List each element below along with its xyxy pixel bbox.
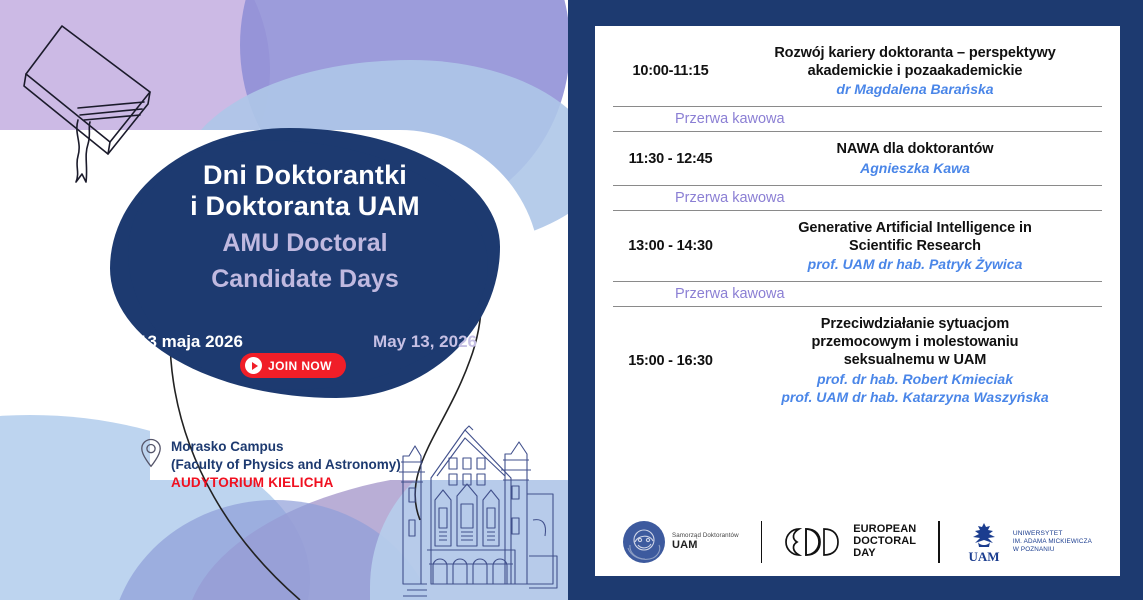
session-title-line: przemocowym i molestowaniu	[734, 333, 1096, 351]
collegium-building-icon	[393, 424, 568, 600]
edd-monogram-icon	[784, 525, 846, 559]
location-pin-icon	[140, 438, 162, 468]
svg-text:UAM: UAM	[968, 549, 999, 564]
logo-european-doctoral-day: EUROPEAN DOCTORAL DAY	[784, 524, 916, 560]
logo-divider	[938, 521, 940, 563]
title-en-line2: Candidate Days	[112, 265, 498, 294]
uam-eagle-icon: UAM	[962, 520, 1006, 564]
break-label: Przerwa kawowa	[675, 286, 785, 302]
session-body: Przeciwdziałanie sytuacjom przemocowym i…	[728, 315, 1102, 406]
venue-line1: Morasko Campus	[171, 438, 401, 456]
session-title-line: Rozwój kariery doktoranta – perspektywy	[734, 44, 1096, 62]
logo-university: UAM UNIWERSYTET IM. ADAMA MICKIEWICZA W …	[962, 520, 1092, 564]
title-en-line1: AMU Doctoral	[112, 229, 498, 258]
session-speaker: prof. UAM dr hab. Katarzyna Waszyńska	[734, 388, 1096, 406]
logo-bar: Samorząd Doktorantów UAM	[613, 514, 1102, 576]
session-time: 13:00 - 14:30	[613, 238, 728, 254]
session-speaker: prof. UAM dr hab. Patryk Żywica	[734, 255, 1096, 273]
schedule-session-row: 11:30 - 12:45 NAWA dla doktorantów Agnie…	[613, 132, 1102, 184]
break-label: Przerwa kawowa	[675, 190, 785, 206]
poster-artwork-panel: Dni Doktorantki i Doktoranta UAM AMU Doc…	[0, 0, 568, 600]
samorzad-doktorantow-mark-icon	[623, 521, 665, 563]
session-title-line: Scientific Research	[734, 237, 1096, 255]
venue-block: Morasko Campus (Faculty of Physics and A…	[140, 438, 401, 491]
schedule-session-row: 15:00 - 16:30 Przeciwdziałanie sytuacjom…	[613, 307, 1102, 414]
poster-root: Dni Doktorantki i Doktoranta UAM AMU Doc…	[0, 0, 1143, 600]
schedule-session-row: 10:00-11:15 Rozwój kariery doktoranta – …	[613, 36, 1102, 106]
play-circle-icon	[245, 357, 262, 374]
university-line2: IM. ADAMA MICKIEWICZA	[1013, 538, 1092, 546]
session-time: 15:00 - 16:30	[613, 353, 728, 369]
schedule-break-row: Przerwa kawowa	[613, 106, 1102, 132]
session-title-line: Przeciwdziałanie sytuacjom	[734, 315, 1096, 333]
university-line3: W POZNANIU	[1013, 546, 1092, 554]
session-title-line: akademickie i pozaakademickie	[734, 62, 1096, 80]
date-english: May 13, 2026	[373, 332, 477, 352]
poster-date-row: 13 maja 2026 May 13, 2026	[120, 332, 495, 352]
session-body: NAWA dla doktorantów Agnieszka Kawa	[728, 140, 1102, 176]
date-polish: 13 maja 2026	[138, 332, 243, 352]
edd-line3: DAY	[853, 548, 916, 560]
student-council-line1: Samorząd Doktorantów	[672, 533, 739, 540]
session-title-line: Generative Artificial Intelligence in	[734, 219, 1096, 237]
venue-line3: AUDYTORIUM KIELICHA	[171, 474, 401, 492]
title-pl-line1: Dni Doktorantki	[112, 160, 498, 191]
session-title-line: seksualnemu w UAM	[734, 351, 1096, 369]
schedule-card: 10:00-11:15 Rozwój kariery doktoranta – …	[595, 26, 1120, 576]
student-council-line2: UAM	[672, 539, 739, 551]
logo-divider	[761, 521, 763, 563]
venue-line2: (Faculty of Physics and Astronomy)	[171, 456, 401, 474]
session-speaker: Agnieszka Kawa	[734, 159, 1096, 177]
session-time: 11:30 - 12:45	[613, 151, 728, 167]
session-body: Generative Artificial Intelligence in Sc…	[728, 219, 1102, 273]
session-body: Rozwój kariery doktoranta – perspektywy …	[728, 44, 1102, 98]
session-title-line: NAWA dla doktorantów	[734, 140, 1096, 158]
break-label: Przerwa kawowa	[675, 111, 785, 127]
session-speaker: prof. dr hab. Robert Kmieciak	[734, 370, 1096, 388]
university-line1: UNIWERSYTET	[1013, 530, 1092, 538]
schedule-session-row: 13:00 - 14:30 Generative Artificial Inte…	[613, 211, 1102, 281]
schedule-list: 10:00-11:15 Rozwój kariery doktoranta – …	[613, 36, 1102, 514]
schedule-break-row: Przerwa kawowa	[613, 281, 1102, 307]
join-now-button[interactable]: JOIN NOW	[240, 353, 346, 378]
schedule-panel: 10:00-11:15 Rozwój kariery doktoranta – …	[568, 0, 1143, 600]
title-pl-line2: i Doktoranta UAM	[112, 191, 498, 222]
session-time: 10:00-11:15	[613, 63, 728, 79]
join-now-label: JOIN NOW	[268, 359, 332, 373]
logo-student-council: Samorząd Doktorantów UAM	[623, 521, 739, 563]
schedule-break-row: Przerwa kawowa	[613, 185, 1102, 211]
session-speaker: dr Magdalena Barańska	[734, 80, 1096, 98]
poster-title-block: Dni Doktorantki i Doktoranta UAM AMU Doc…	[112, 160, 498, 294]
